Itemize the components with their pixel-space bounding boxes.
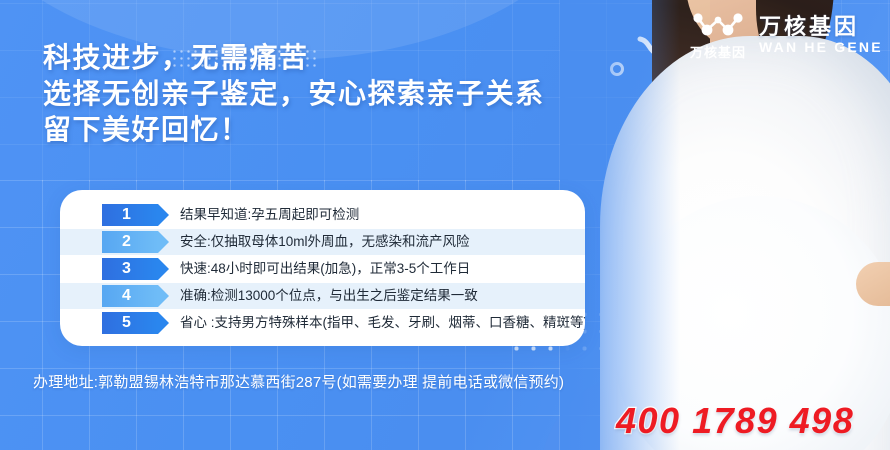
feature-row: 3 快速:48小时即可出结果(加急)，正常3-5个工作日 (60, 256, 585, 282)
logo-name-cn: 万核基因 (759, 15, 883, 40)
office-address: 办理地址:郭勒盟锡林浩特市那达慕西街287号(如需要办理 提前电话或微信预约) (33, 371, 564, 392)
feature-number-badge: 2 (102, 231, 158, 253)
feature-text: 安全:仅抽取母体10ml外周血，无感染和流产风险 (180, 235, 470, 249)
headline-line-3: 留下美好回忆！ (43, 112, 663, 148)
logo-mark: 万核基因 (690, 10, 746, 61)
feature-row: 5 省心 :支持男方特殊样本(指甲、毛发、牙刷、烟蒂、口香糖、精斑等) (60, 310, 585, 336)
headline-line-1: 科技进步，无需痛苦 (43, 40, 663, 76)
feature-text: 准确:检测13000个位点，与出生之后鉴定结果一致 (180, 289, 478, 303)
feature-card: 1 结果早知道:孕五周起即可检测 2 安全:仅抽取母体10ml外周血，无感染和流… (60, 190, 585, 346)
feature-number-badge: 4 (102, 285, 158, 307)
headline-line-2: 选择无创亲子鉴定，安心探索亲子关系 (43, 76, 663, 112)
feature-text: 结果早知道:孕五周起即可检测 (180, 208, 359, 222)
hotline-phone-number[interactable]: 400 1789 498 (616, 400, 854, 442)
promo-banner: 万核基因 万核基因 WAN HE GENE 科技进步，无需痛苦 选择无创亲子鉴定… (0, 0, 890, 450)
feature-row: 1 结果早知道:孕五周起即可检测 (60, 202, 585, 228)
logo-name-en: WAN HE GENE (759, 39, 883, 56)
headline-line-1-text: 科技进步，无需痛苦 (43, 42, 309, 73)
feature-number-badge: 3 (102, 258, 158, 280)
feature-number-badge: 1 (102, 204, 158, 226)
logo-wordmark: 万核基因 WAN HE GENE (759, 15, 883, 56)
brand-logo[interactable]: 万核基因 万核基因 WAN HE GENE (690, 10, 883, 61)
headline-block: 科技进步，无需痛苦 选择无创亲子鉴定，安心探索亲子关系 留下美好回忆！ (43, 40, 663, 148)
feature-text: 快速:48小时即可出结果(加急)，正常3-5个工作日 (180, 262, 470, 276)
feature-text: 省心 :支持男方特殊样本(指甲、毛发、牙刷、烟蒂、口香糖、精斑等) (180, 316, 585, 330)
logo-mark-label: 万核基因 (690, 42, 746, 61)
molecule-icon (690, 10, 746, 40)
feature-row: 4 准确:检测13000个位点，与出生之后鉴定结果一致 (60, 283, 585, 309)
feature-number-badge: 5 (102, 312, 158, 334)
feature-row: 2 安全:仅抽取母体10ml外周血，无感染和流产风险 (60, 229, 585, 255)
